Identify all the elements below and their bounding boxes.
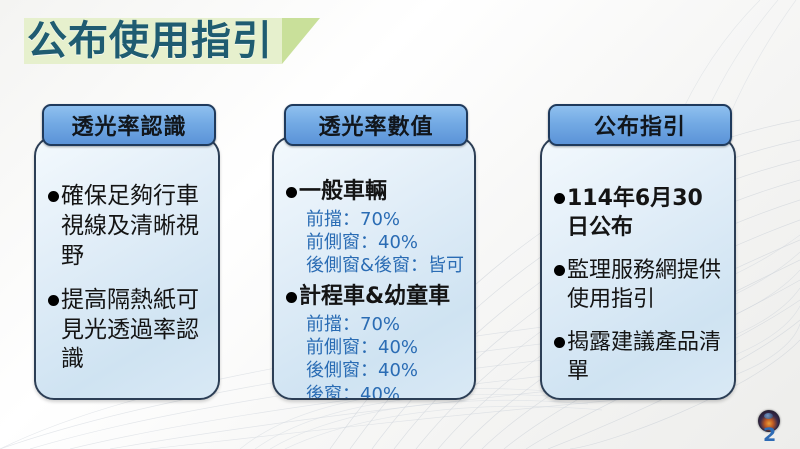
card-header-pill: 透光率數值 <box>284 104 468 146</box>
list-item: 確保足夠行車視線及清晰視野 <box>48 182 208 272</box>
page-title: 公布使用指引 <box>27 8 273 66</box>
list-item-text: 監理服務網提供使用指引 <box>567 256 724 314</box>
list-item: 揭露建議產品清單 <box>554 328 724 386</box>
card-header-pill: 透光率認識 <box>42 104 216 146</box>
bullet-dot-icon <box>286 292 297 303</box>
card-header-pill: 公布指引 <box>548 104 732 146</box>
title-triangle-accent <box>282 18 320 64</box>
sub-list-item: 後窗：40% <box>306 383 464 401</box>
card-body: 確保足夠行車視線及清晰視野 提高隔熱紙可見光透過率認識 <box>34 136 220 400</box>
list-item-text: 提高隔熱紙可見光透過率認識 <box>61 286 208 376</box>
bullet-dot-icon <box>554 337 565 348</box>
list-item-text: 確保足夠行車視線及清晰視野 <box>61 182 208 272</box>
list-item: 提高隔熱紙可見光透過率認識 <box>48 286 208 376</box>
sub-list: 前擋：70% 前側窗：40% 後側窗&後窗：皆可 <box>306 208 464 278</box>
group-heading: 一般車輛 <box>299 178 387 207</box>
group-heading: 計程車&幼童車 <box>299 283 450 312</box>
list-item-text: 揭露建議產品清單 <box>567 328 724 386</box>
list-item: 計程車&幼童車 前擋：70% 前側窗：40% 後側窗：40% 後窗：40% <box>286 283 464 400</box>
list-item: 114年6月30日公布 <box>554 184 724 242</box>
bullet-dot-icon <box>48 295 59 306</box>
page-number: 2 <box>763 424 776 446</box>
card-body: 一般車輛 前擋：70% 前側窗：40% 後側窗&後窗：皆可 計程車&幼童車 前擋… <box>272 136 476 400</box>
sub-list-item: 前側窗：40% <box>306 336 464 359</box>
bullet-dot-icon <box>554 193 565 204</box>
list-item: 監理服務網提供使用指引 <box>554 256 724 314</box>
sub-list-item: 前擋：70% <box>306 208 464 231</box>
slide-canvas: 公布使用指引 透光率認識 確保足夠行車視線及清晰視野 提高隔熱紙可見光透過率認識… <box>0 0 800 449</box>
sub-list-item: 前側窗：40% <box>306 231 464 254</box>
card-body: 114年6月30日公布 監理服務網提供使用指引 揭露建議產品清單 <box>540 136 736 400</box>
sub-list-item: 後側窗&後窗：皆可 <box>306 254 464 277</box>
list-item-text: 114年6月30日公布 <box>567 184 724 242</box>
bullet-dot-icon <box>554 265 565 276</box>
sub-list-item: 後側窗：40% <box>306 359 464 382</box>
list-item: 一般車輛 前擋：70% 前側窗：40% 後側窗&後窗：皆可 <box>286 178 464 277</box>
sub-list-item: 前擋：70% <box>306 313 464 336</box>
bullet-dot-icon <box>48 191 59 202</box>
sub-list: 前擋：70% 前側窗：40% 後側窗：40% 後窗：40% <box>306 313 464 400</box>
bullet-dot-icon <box>286 187 297 198</box>
